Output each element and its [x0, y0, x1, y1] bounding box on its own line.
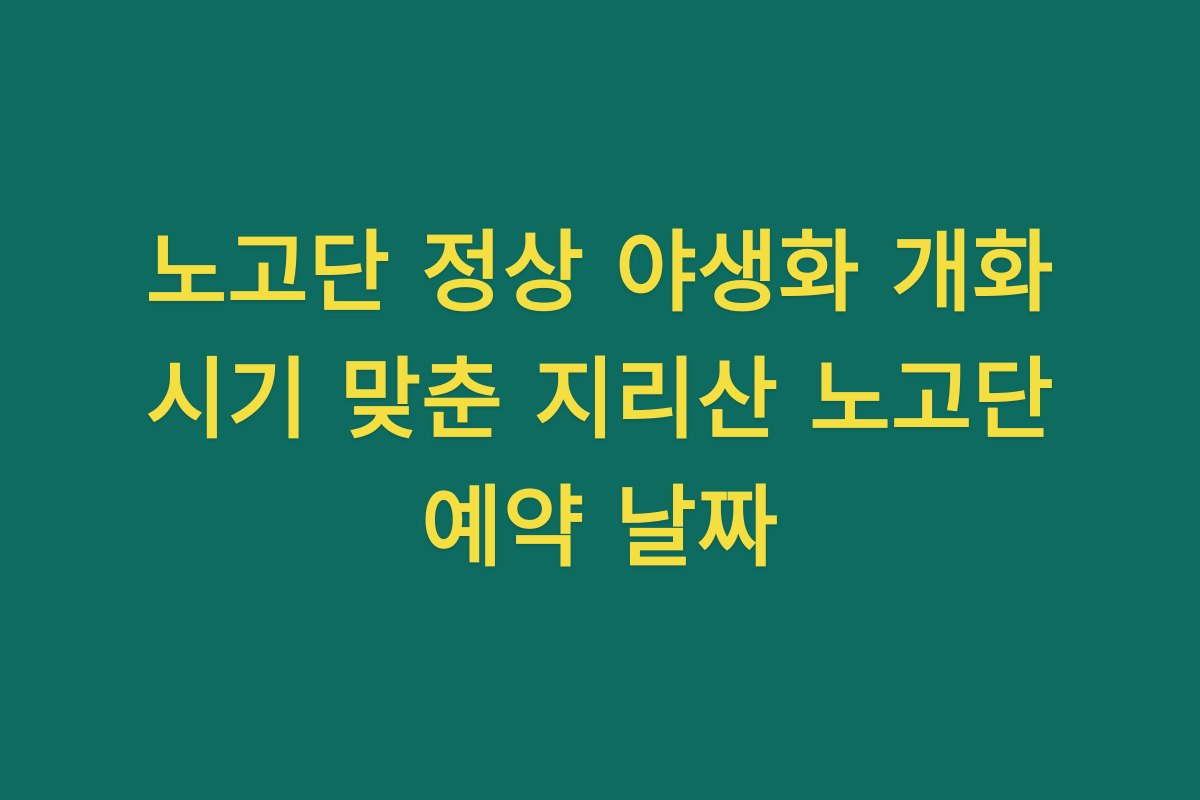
title-card: 노고단 정상 야생화 개화 시기 맞춘 지리산 노고단 예약 날짜 — [0, 0, 1200, 800]
title-block: 노고단 정상 야생화 개화 시기 맞춘 지리산 노고단 예약 날짜 — [115, 209, 1085, 592]
page-title: 노고단 정상 야생화 개화 시기 맞춘 지리산 노고단 예약 날짜 — [115, 209, 1085, 592]
